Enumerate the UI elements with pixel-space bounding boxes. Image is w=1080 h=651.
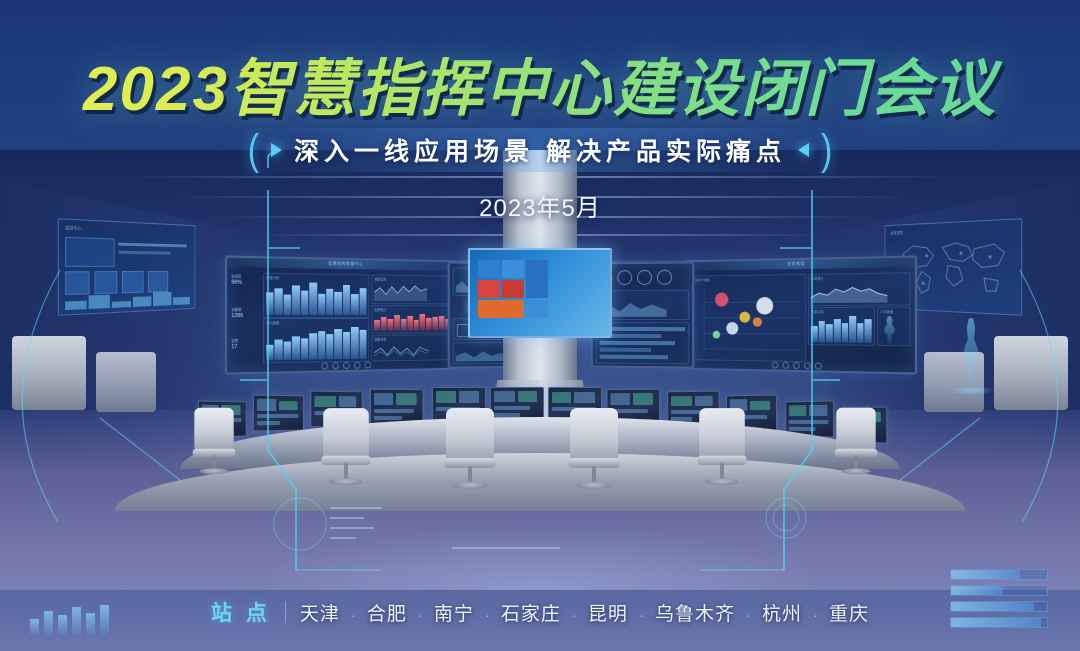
bar xyxy=(413,320,419,331)
deco-progress-fill xyxy=(951,570,1020,579)
city-0[interactable]: 天津 xyxy=(300,604,340,625)
left-kpi-3: 告警 17 xyxy=(231,339,238,351)
bar xyxy=(326,289,333,315)
console-row xyxy=(190,365,890,460)
city-list: 天津·合肥·南宁·石家庄·昆明·乌鲁木齐·杭州·重庆 xyxy=(300,599,869,626)
left-kpi-2: 设备数 1286 xyxy=(231,308,243,320)
bar-chart-resource xyxy=(811,316,872,343)
right-videowall: 态势感知 分布气泡图 区域统计 资源占用 xyxy=(685,255,917,374)
bar xyxy=(275,340,283,361)
subtitle-row: ( 深入一线应用场景 解决产品实际痛点 ) xyxy=(0,128,1080,172)
city-separator: · xyxy=(639,607,644,624)
hologram-base-right xyxy=(948,386,994,395)
deco-progress-line xyxy=(950,569,1048,580)
deco-progress-fill xyxy=(951,602,1034,611)
deco-progress-line xyxy=(950,585,1048,596)
bar xyxy=(439,316,444,331)
city-separator: · xyxy=(485,607,490,624)
windows-display xyxy=(468,248,612,338)
city-7[interactable]: 重庆 xyxy=(829,604,869,625)
city-separator: · xyxy=(572,607,577,624)
city-3[interactable]: 石家庄 xyxy=(501,604,561,625)
poster-root: 监控中心 全球态势 xyxy=(0,0,1080,651)
bubble xyxy=(713,331,720,339)
city-separator: · xyxy=(746,607,751,624)
office-chair xyxy=(442,408,498,494)
equipment-rack-left xyxy=(12,336,86,410)
left-panel-produce: 产能分析 xyxy=(263,273,369,318)
bar xyxy=(335,329,342,359)
bar xyxy=(335,291,342,315)
bar xyxy=(343,332,350,359)
play-left-triangle-icon xyxy=(798,143,809,157)
bar xyxy=(407,316,413,330)
line-chart-device xyxy=(374,343,428,358)
bar xyxy=(292,286,300,315)
bar xyxy=(351,294,358,315)
equipment-rack-left-2 xyxy=(96,352,156,412)
left-panel-device: 设备状态 xyxy=(371,334,453,361)
left-wall-screen-label: 监控中心 xyxy=(65,225,81,232)
left-kpi-1: 在线率 98% xyxy=(231,274,242,287)
office-chair xyxy=(191,408,237,479)
bar xyxy=(387,319,393,330)
bar xyxy=(266,292,274,315)
bar-chart-alarm xyxy=(374,314,451,331)
bar xyxy=(284,295,292,315)
deco-progress-fill xyxy=(951,618,1041,627)
left-panel-trend: 运行趋势 xyxy=(263,318,369,363)
left-videowall-title: 智慧指挥数据中心 xyxy=(328,261,363,268)
bar xyxy=(292,336,300,360)
bubble xyxy=(753,317,762,326)
left-panel-flow: 流量监测 xyxy=(371,274,453,304)
deco-progress-bars-icon xyxy=(950,569,1048,633)
right-panel-resource: 资源占用 xyxy=(808,307,875,346)
bubble xyxy=(756,297,773,314)
right-videowall-title: 态势感知 xyxy=(787,261,805,267)
bar xyxy=(834,319,841,343)
bar xyxy=(309,283,316,315)
bar xyxy=(301,338,309,360)
subtitle-text: 深入一线应用场景 解决产品实际痛点 xyxy=(294,132,786,168)
bar xyxy=(826,325,833,343)
bar xyxy=(318,294,325,315)
bar xyxy=(359,288,366,315)
office-chair xyxy=(695,408,748,490)
city-2[interactable]: 南宁 xyxy=(434,604,474,625)
bar xyxy=(309,333,316,360)
person-hologram-icon xyxy=(880,316,899,343)
bubble xyxy=(739,312,750,323)
bar-chart-produce xyxy=(266,282,366,315)
bar xyxy=(849,316,856,343)
bar xyxy=(420,314,425,331)
bar xyxy=(326,334,333,359)
deco-progress-line xyxy=(950,601,1048,612)
bar xyxy=(284,341,292,360)
right-bracket-icon: ) xyxy=(821,129,832,172)
footer: 站 点 天津·合肥·南宁·石家庄·昆明·乌鲁木齐·杭州·重庆 xyxy=(0,589,1080,651)
page-title: 2023智慧指挥中心建设闭门会议 xyxy=(0,38,1080,128)
event-date: 2023年5月 xyxy=(0,188,1080,223)
play-right-triangle-icon xyxy=(271,143,282,157)
bar xyxy=(394,315,400,331)
left-wall-screen: 监控中心 xyxy=(58,218,195,316)
bubble-scatter-chart xyxy=(695,284,803,358)
bar xyxy=(381,317,387,330)
deco-progress-line xyxy=(950,617,1048,628)
bar xyxy=(811,326,818,342)
bar xyxy=(301,290,309,315)
city-separator: · xyxy=(418,607,423,624)
city-6[interactable]: 杭州 xyxy=(762,604,802,625)
right-panel-bubble: 分布气泡图 xyxy=(692,274,806,362)
bar xyxy=(865,319,872,342)
city-4[interactable]: 昆明 xyxy=(588,604,628,625)
bar xyxy=(401,319,407,331)
bar xyxy=(374,320,380,331)
stations-divider xyxy=(285,601,286,623)
city-separator: · xyxy=(813,607,818,624)
left-bracket-icon: ( xyxy=(248,129,259,172)
right-panel-area: 区域统计 xyxy=(808,272,911,306)
subtitle-bar: ( 深入一线应用场景 解决产品实际痛点 ) xyxy=(244,128,837,172)
bar xyxy=(266,344,274,360)
windows-tiles xyxy=(478,260,548,318)
office-chair xyxy=(319,408,372,490)
bar xyxy=(318,331,325,359)
line-chart-flow xyxy=(374,285,427,302)
bubble xyxy=(726,322,738,335)
area-chart-region xyxy=(811,284,888,303)
bar xyxy=(351,327,358,359)
equipment-rack-right xyxy=(994,336,1068,410)
left-videowall: 智慧指挥数据中心 在线率 98% 设备数 1286 告警 17 产能分析 运行趋… xyxy=(225,255,457,374)
city-1[interactable]: 合肥 xyxy=(367,604,407,625)
office-chair xyxy=(566,408,622,494)
city-5[interactable]: 乌鲁木齐 xyxy=(655,604,735,625)
bar xyxy=(857,323,864,342)
bar xyxy=(275,288,283,315)
bar xyxy=(841,323,848,343)
bar xyxy=(433,317,438,330)
right-panel-hologram: 人员画像 xyxy=(877,307,911,347)
bar xyxy=(818,321,825,343)
city-separator: · xyxy=(351,607,356,624)
bar xyxy=(359,330,366,359)
deco-progress-fill xyxy=(951,586,1003,595)
bar xyxy=(426,318,431,330)
bubble xyxy=(715,293,728,307)
console-monitor xyxy=(253,395,304,432)
stations-label: 站 点 xyxy=(211,597,271,627)
left-panel-alarm: 告警统计 xyxy=(371,305,453,334)
bar-chart-trend xyxy=(266,327,366,360)
bar xyxy=(343,285,350,315)
station-list: 站 点 天津·合肥·南宁·石家庄·昆明·乌鲁木齐·杭州·重庆 xyxy=(0,597,1080,627)
office-chair xyxy=(833,408,879,479)
